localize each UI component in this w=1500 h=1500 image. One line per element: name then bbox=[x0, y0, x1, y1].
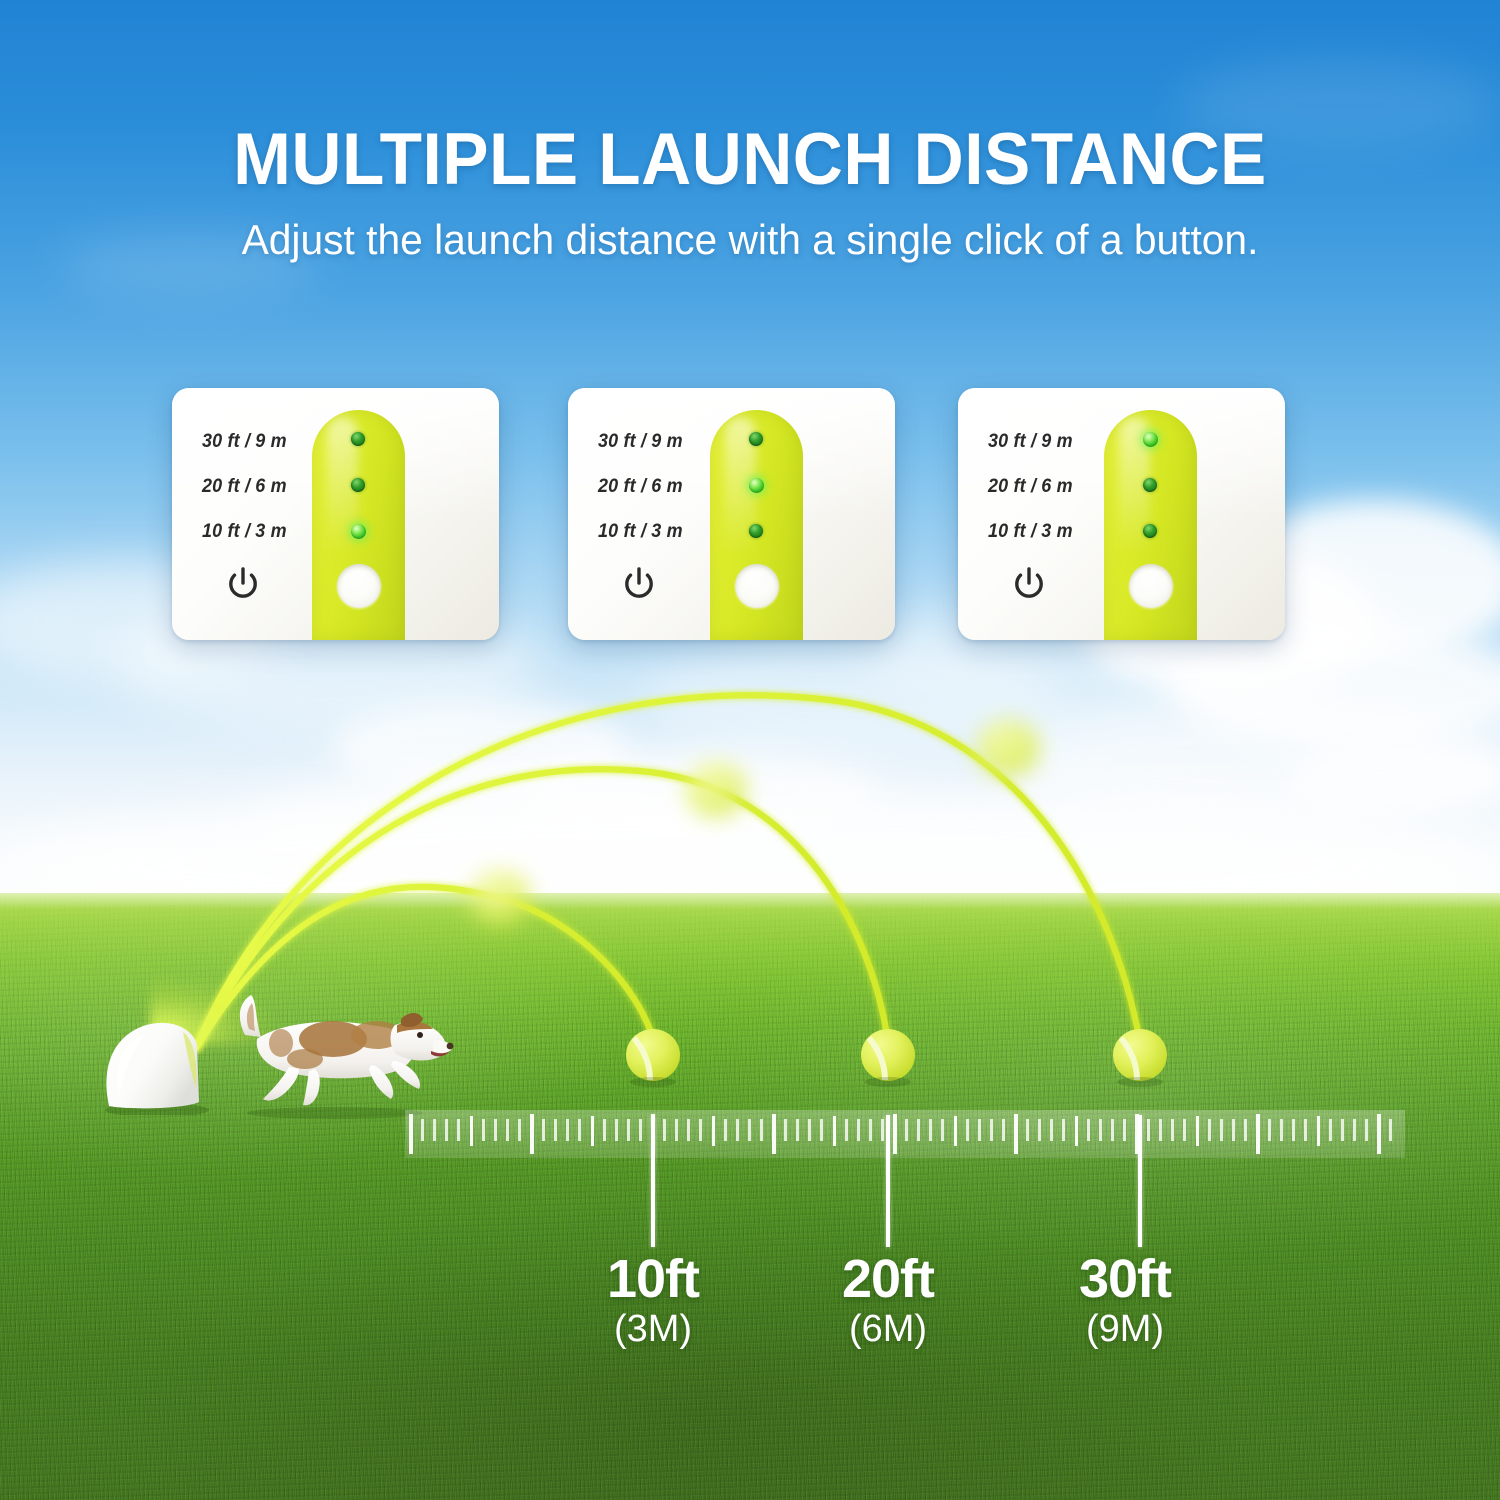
dropline-10ft bbox=[651, 1115, 655, 1247]
distance-marker-20ft: 20ft (6M) bbox=[773, 1252, 1003, 1354]
distance-marker-10ft: 10ft (3M) bbox=[538, 1252, 768, 1354]
distance-marker-20ft-meters: (6M) bbox=[773, 1306, 1003, 1354]
product-feature-banner: MULTIPLE LAUNCH DISTANCE Adjust the laun… bbox=[0, 0, 1500, 1500]
dropline-20ft bbox=[886, 1115, 890, 1247]
distance-marker-10ft-meters: (3M) bbox=[538, 1306, 768, 1354]
distance-marker-20ft-feet: 20ft bbox=[773, 1252, 1003, 1306]
distance-marker-30ft-meters: (9M) bbox=[1010, 1306, 1240, 1354]
dropline-30ft bbox=[1138, 1115, 1142, 1247]
distance-marker-30ft-feet: 30ft bbox=[1010, 1252, 1240, 1306]
distance-marker-30ft: 30ft (9M) bbox=[1010, 1252, 1240, 1354]
distance-marker-10ft-feet: 10ft bbox=[538, 1252, 768, 1306]
